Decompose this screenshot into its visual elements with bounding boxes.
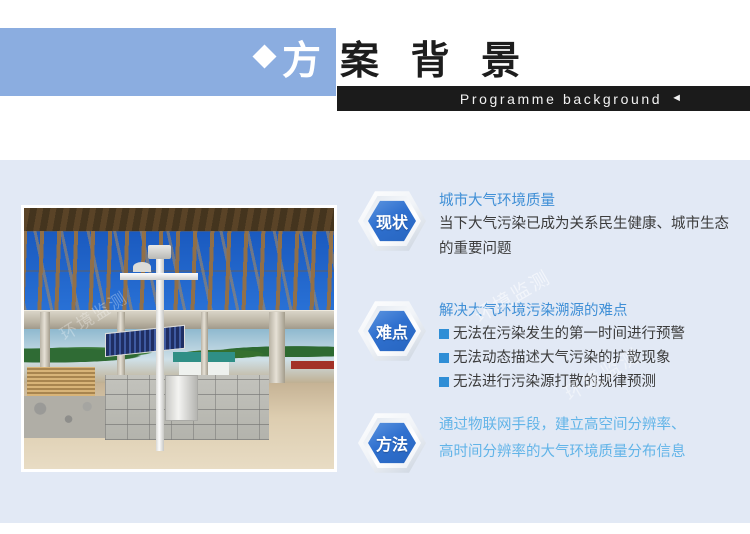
block-body-line: 通过物联网手段，建立高空间分辨率、 — [439, 412, 750, 439]
list-item: 无法在污染发生的第一时间进行预警 — [439, 322, 750, 346]
square-bullet-icon — [439, 353, 449, 363]
badge-difficulty: 难点 — [358, 300, 426, 362]
photo-red-awning — [291, 361, 334, 369]
square-bullet-icon — [439, 329, 449, 339]
square-bullet-icon — [439, 377, 449, 387]
photo-gravel-pile — [24, 396, 105, 438]
badge-label: 现状 — [368, 200, 416, 242]
photo-control-cabinet — [165, 375, 198, 421]
block-body-line: 的重要问题 — [439, 237, 750, 262]
header-subtitle-text: Programme background — [460, 91, 662, 107]
badge-label: 方法 — [368, 422, 416, 464]
list-item-label: 无法动态描述大气污染的扩散现象 — [453, 346, 671, 370]
photo-roof-frame — [24, 208, 334, 231]
photo-monitoring-pole — [156, 258, 164, 451]
info-block-text: 解决大气环境污染溯源的难点 无法在污染发生的第一时间进行预警 无法动态描述大气污… — [439, 300, 750, 394]
page-header: 方 案 背 景 Programme background ◄ — [0, 0, 750, 158]
block-body-line: 当下大气污染已成为关系民生健康、城市生态 — [439, 212, 750, 237]
photo-sensor-crossarm — [120, 273, 198, 279]
list-item: 无法进行污染源打散的规律预测 — [439, 370, 750, 394]
block-heading: 城市大气环境质量 — [439, 190, 750, 212]
photo-timber-stack — [27, 367, 95, 396]
monitoring-station-photo: 环境监测 — [24, 208, 334, 469]
badge-current-status: 现状 — [358, 190, 426, 252]
photo-frame: 环境监测 — [21, 205, 337, 472]
photo-anemometer — [133, 262, 152, 272]
info-block-text: 通过物联网手段，建立高空间分辨率、 高时间分辨率的大气环境质量分布信息 — [439, 412, 750, 466]
list-item-label: 无法进行污染源打散的规律预测 — [453, 370, 656, 394]
page-title-accent: 方 — [282, 28, 326, 96]
badge-method: 方法 — [358, 412, 426, 474]
list-item-label: 无法在污染发生的第一时间进行预警 — [453, 322, 685, 346]
list-item: 无法动态描述大气污染的扩散现象 — [439, 346, 750, 370]
block-body-line: 高时间分辨率的大气环境质量分布信息 — [439, 439, 750, 466]
left-arrow-icon: ◄ — [671, 93, 682, 104]
header-subtitle-bar: Programme background ◄ — [337, 86, 750, 111]
info-block-text: 城市大气环境质量 当下大气污染已成为关系民生健康、城市生态 的重要问题 — [439, 190, 750, 262]
photo-sensor-head — [148, 245, 171, 259]
badge-label: 难点 — [368, 310, 416, 352]
block-heading: 解决大气环境污染溯源的难点 — [439, 300, 750, 322]
